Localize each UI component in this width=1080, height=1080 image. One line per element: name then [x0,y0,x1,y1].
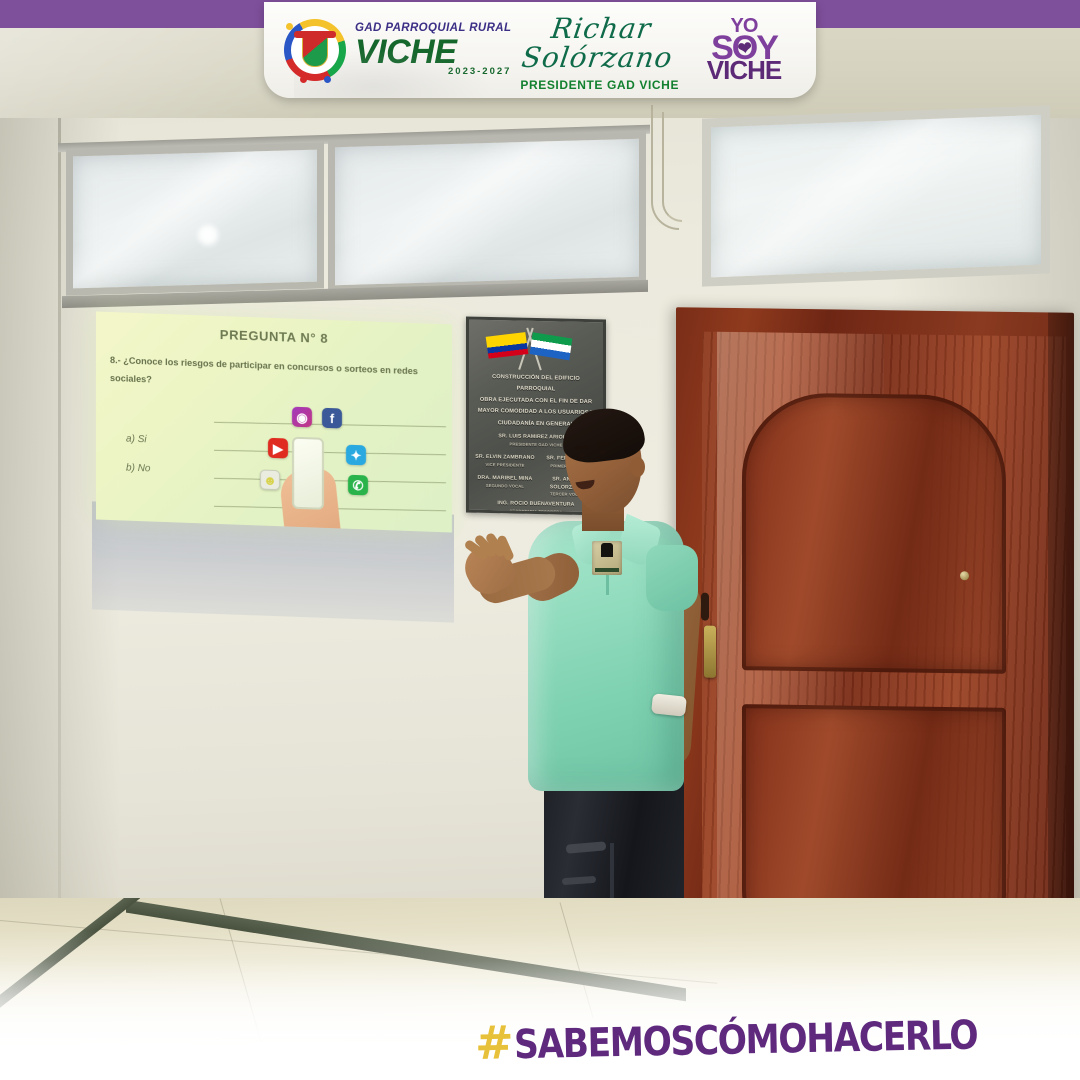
wristwatch-icon [651,693,687,716]
president-block: Richar Solórzano PRESIDENTE GAD VICHE [511,14,688,93]
door-panel-upper [742,392,1006,674]
slide-title: PREGUNTA N° 8 [96,322,452,350]
slide-option-b: b) No [126,454,150,484]
pants-knee-rip-second [562,876,596,885]
window-pane-left [66,142,324,295]
hash-symbol: # [474,1015,512,1070]
youtube-icon: ▶ [268,438,288,459]
president-signature: Richar Solórzano [507,14,692,73]
coat-of-arms-emblem-icon [284,19,346,81]
window-light-glare [195,222,221,248]
ceiling-cable-secondary [662,112,682,222]
emblem-dot-yellow [286,23,293,30]
window-band [52,128,652,300]
shirt-sleeve-right [646,545,698,611]
slide-options: a) Si b) No [126,425,150,484]
projected-slide: PREGUNTA N° 8 8.- ¿Conoce los riesgos de… [96,311,452,532]
plaque-line-1: CONSTRUCCIÓN DEL EDIFICIO PARROQUIAL [474,372,598,398]
snapchat-icon: ☻ [260,469,280,490]
window-pane-middle [328,132,646,293]
whatsapp-icon: ✆ [348,475,368,496]
hashtag-text: SABEMOSCÓMOHACERLO [513,1013,977,1069]
header-banner: GAD PARROQUIAL RURAL VICHE 2023-2027 Ric… [264,2,816,98]
facebook-icon: f [322,408,342,429]
door-screw-icon [960,571,969,580]
door-slab [702,332,1066,953]
door-jamb-right [1048,312,1074,952]
emblem-dot-red [300,76,307,83]
emblem-ribbon [294,31,336,38]
slide-question: 8.- ¿Conoce los riesgos de participar en… [110,352,436,400]
emblem-dot-blue [324,76,331,83]
slide-option-a: a) Si [126,425,150,455]
heart-icon: ❤ [737,41,751,57]
yo-soy-viche-logo: YO SOY ❤ VICHE [688,18,800,82]
twitter-icon: ✦ [346,445,366,466]
social-media-post: PREGUNTA N° 8 8.- ¿Conoce los riesgos de… [0,0,1080,1080]
instagram-icon: ◉ [292,407,312,428]
window-pane-right [702,105,1050,286]
president-role: PRESIDENTE GAD VICHE [511,78,688,92]
yosoy-soy: SOY ❤ [711,35,777,63]
shirt-embroidered-emblem-icon [592,541,622,575]
person-eye [578,453,585,457]
plaque-flags [469,320,603,375]
photo-scene: PREGUNTA N° 8 8.- ¿Conoce los riesgos de… [0,0,1080,1080]
phone-illustration [292,437,324,510]
person-ear [630,457,645,477]
pants-knee-rip [566,841,607,853]
ecuador-flag-icon [486,332,529,359]
person-eye [599,450,606,454]
emblem-shield [302,33,328,67]
